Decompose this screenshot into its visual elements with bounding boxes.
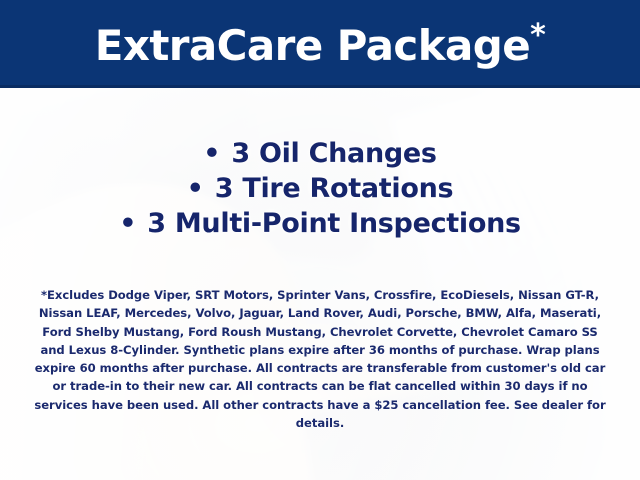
bullet-dot-icon: • — [187, 173, 204, 204]
benefit-label: 3 Tire Rotations — [215, 173, 454, 204]
list-item: • 3 Tire Rotations — [0, 171, 640, 206]
benefit-label: 3 Multi-Point Inspections — [147, 208, 521, 239]
page-title: ExtraCare Package* — [95, 21, 546, 67]
header-band: ExtraCare Package* — [0, 0, 640, 88]
page-title-asterisk: * — [530, 18, 545, 53]
list-item: • 3 Oil Changes — [0, 136, 640, 171]
bullet-dot-icon: • — [203, 138, 220, 169]
extracare-package-ad: ExtraCare Package* • 3 Oil Changes • 3 T… — [0, 0, 640, 480]
benefits-list: • 3 Oil Changes • 3 Tire Rotations • 3 M… — [0, 136, 640, 241]
disclaimer-text: *Excludes Dodge Viper, SRT Motors, Sprin… — [34, 286, 606, 432]
benefit-label: 3 Oil Changes — [231, 138, 436, 169]
list-item: • 3 Multi-Point Inspections — [0, 206, 640, 241]
bullet-dot-icon: • — [119, 208, 136, 239]
page-title-text: ExtraCare Package — [95, 21, 530, 70]
